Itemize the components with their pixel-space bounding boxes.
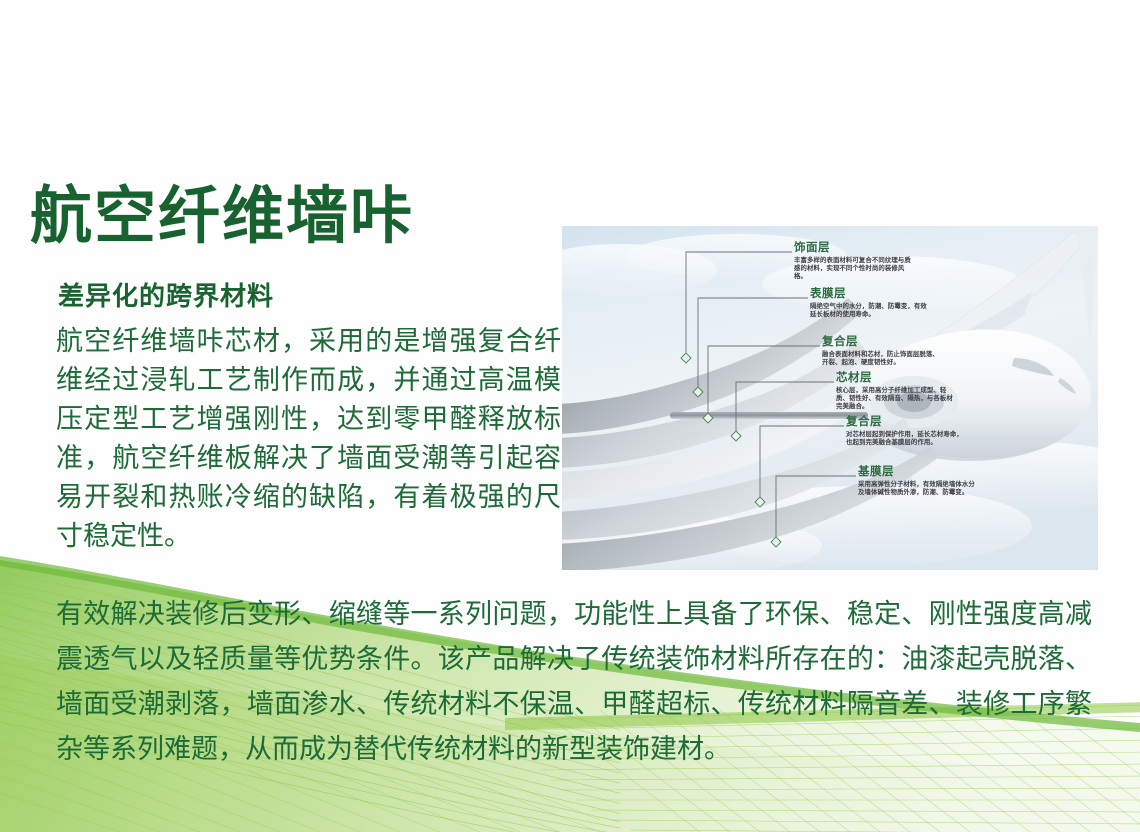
callout-title: 表膜层 bbox=[810, 288, 930, 301]
lead-paragraph: 航空纤维墙咔芯材，采用的是增强复合纤维经过浸轧工艺制作而成，并通过高温模压定型工… bbox=[56, 322, 561, 556]
callout-description: 对芯材层起到保护作用，延长芯材寿命，也起到完美融合基膜层的作用。 bbox=[846, 431, 966, 448]
callout-title: 复合层 bbox=[822, 336, 942, 349]
callout-description: 隔绝空气中的水分，防潮、防霉变，有效延长板材的使用寿命。 bbox=[810, 303, 930, 320]
callout-core-layer: 芯材层 核心层，采用高分子纤维加工成型、轻质、韧性好、有效隔音、隔热，与各板材完… bbox=[836, 372, 956, 412]
callout-title: 芯材层 bbox=[836, 372, 956, 385]
callout-title: 饰面层 bbox=[794, 242, 914, 255]
callout-composite-layer-bottom: 复合层 对芯材层起到保护作用，延长芯材寿命，也起到完美融合基膜层的作用。 bbox=[846, 416, 966, 447]
poster-page: 航空纤维墙咔 差异化的跨界材料 航空纤维墙咔芯材，采用的是增强复合纤维经过浸轧工… bbox=[0, 0, 1140, 832]
callout-title: 复合层 bbox=[846, 416, 966, 429]
callout-decorative-layer: 饰面层 丰富多样的表面材料可复合不同纹理与质感的材料，实现不同个性时尚的装修风格… bbox=[794, 242, 914, 282]
callout-composite-layer-top: 复合层 融合表面材料和芯材，防止饰面层脱落、开裂、起泡、硬度韧性好。 bbox=[822, 336, 942, 367]
page-subtitle: 差异化的跨界材料 bbox=[58, 276, 274, 313]
callout-surface-film-layer: 表膜层 隔绝空气中的水分，防潮、防霉变，有效延长板材的使用寿命。 bbox=[810, 288, 930, 319]
page-title: 航空纤维墙咔 bbox=[30, 186, 414, 248]
callout-base-film-layer: 基膜层 采用高弹性分子材料，有效隔绝墙体水分及墙体碱性物质外渗，防潮、防霉变。 bbox=[858, 466, 978, 497]
body-paragraph: 有效解决装修后变形、缩缝等一系列问题，功能性上具备了环保、稳定、刚性强度高减震透… bbox=[56, 592, 1092, 772]
callout-description: 核心层，采用高分子纤维加工成型、轻质、韧性好、有效隔音、隔热，与各板材完美融合。 bbox=[836, 387, 956, 412]
callout-description: 融合表面材料和芯材，防止饰面层脱落、开裂、起泡、硬度韧性好。 bbox=[822, 351, 942, 368]
callout-description: 采用高弹性分子材料，有效隔绝墙体水分及墙体碱性物质外渗，防潮、防霉变。 bbox=[858, 481, 978, 498]
callout-description: 丰富多样的表面材料可复合不同纹理与质感的材料，实现不同个性时尚的装修风格。 bbox=[794, 257, 914, 282]
airplane-layered-material-image: 饰面层 丰富多样的表面材料可复合不同纹理与质感的材料，实现不同个性时尚的装修风格… bbox=[562, 226, 1098, 570]
callout-title: 基膜层 bbox=[858, 466, 978, 479]
